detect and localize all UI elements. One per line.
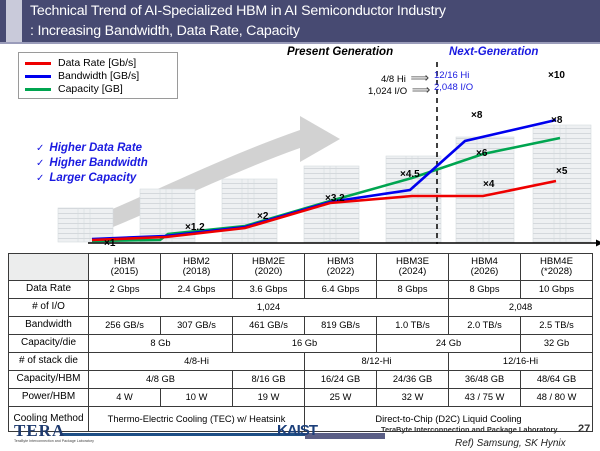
- multiplier-label: ×5: [556, 166, 567, 177]
- table-cell: 8 Gbps: [449, 281, 521, 299]
- hbm-spec-table: HBM(2015)HBM2(2018)HBM2E(2020)HBM3(2022)…: [8, 253, 593, 432]
- lab-name: TeraByte Interconnection and Package Lab…: [381, 425, 557, 434]
- table-row: Data Rate2 Gbps2.4 Gbps3.6 Gbps6.4 Gbps8…: [9, 281, 593, 299]
- table-row: Power/HBM4 W10 W19 W25 W32 W43 / 75 W48 …: [9, 389, 593, 407]
- x-axis-arrow-icon: [596, 240, 600, 247]
- table-cell: 10 W: [161, 389, 233, 407]
- kaist-logo: KAIST: [277, 422, 317, 439]
- trend-chart: Data Rate [Gb/s] Bandwidth [GB/s] Capaci…: [0, 44, 600, 252]
- column-year: (2015): [89, 267, 160, 278]
- check-icon: ✓: [36, 173, 44, 184]
- multiplier-label: ×4.5: [400, 169, 420, 180]
- table-cell: 4/8-Hi: [89, 353, 305, 371]
- table-corner-cell: [9, 254, 89, 281]
- column-header-hbm4e: HBM4E(*2028): [521, 254, 593, 281]
- tera-logo: TERA: [14, 421, 65, 441]
- column-header-hbm3e: HBM3E(2024): [377, 254, 449, 281]
- title-accent-bar: [6, 0, 22, 42]
- table-cell: 32 W: [377, 389, 449, 407]
- next-generation-label: Next-Generation: [449, 46, 538, 58]
- legend-label-bandwidth: Bandwidth [GB/s]: [58, 71, 139, 82]
- table-cell: 19 W: [233, 389, 305, 407]
- legend-label-capacity: Capacity [GB]: [58, 84, 123, 95]
- table-header-row: HBM(2015)HBM2(2018)HBM2E(2020)HBM3(2022)…: [9, 254, 593, 281]
- arrow-right-icon: ⟹: [412, 82, 431, 97]
- row-label: Power/HBM: [9, 389, 89, 407]
- page-number: 27: [578, 423, 590, 435]
- column-year: (2018): [161, 267, 232, 278]
- legend-swatch-capacity: [25, 88, 51, 91]
- table-cell: 2,048: [449, 299, 593, 317]
- row-label: # of stack die: [9, 353, 89, 371]
- reference-note: Ref) Samsung, SK Hynix: [455, 438, 566, 449]
- footer-rule: [60, 433, 305, 436]
- die-stack-hbm2e: [222, 179, 277, 242]
- multiplier-label: ×8: [471, 110, 482, 121]
- column-header-hbm4: HBM4(2026): [449, 254, 521, 281]
- bullet-higher-bandwidth: ✓Higher Bandwidth: [36, 157, 148, 169]
- bullet-label: Larger Capacity: [49, 172, 136, 184]
- legend-swatch-data-rate: [25, 62, 51, 65]
- multiplier-label: ×2: [257, 211, 268, 222]
- table-cell: 16 Gb: [233, 335, 377, 353]
- column-year: (2020): [233, 267, 304, 278]
- table-row: Capacity/HBM4/8 GB8/16 GB16/24 GB24/36 G…: [9, 371, 593, 389]
- check-icon: ✓: [36, 158, 44, 169]
- row-label: Capacity/HBM: [9, 371, 89, 389]
- row-label: Capacity/die: [9, 335, 89, 353]
- table-cell: 2.0 TB/s: [449, 317, 521, 335]
- present-generation-label: Present Generation: [287, 46, 393, 58]
- table-cell: 3.6 Gbps: [233, 281, 305, 299]
- table-row: Capacity/die8 Gb16 Gb24 Gb32 Gb: [9, 335, 593, 353]
- table-cell: 4/8 GB: [89, 371, 233, 389]
- multiplier-label: ×3.2: [325, 193, 345, 204]
- row-label: Bandwidth: [9, 317, 89, 335]
- bullet-higher-data-rate: ✓Higher Data Rate: [36, 142, 142, 154]
- multiplier-label: ×1: [104, 238, 115, 249]
- table-cell: 461 GB/s: [233, 317, 305, 335]
- bullet-label: Higher Bandwidth: [49, 157, 147, 169]
- die-stack-hbm: [58, 208, 113, 242]
- slide-footer: TERA TeraByte Interconnection and Packag…: [0, 425, 600, 451]
- table-row: Bandwidth256 GB/s307 GB/s461 GB/s819 GB/…: [9, 317, 593, 335]
- table-cell: 10 Gbps: [521, 281, 593, 299]
- table-cell: 8/12-Hi: [305, 353, 449, 371]
- multiplier-label: ×8: [551, 115, 562, 126]
- table-cell: 43 / 75 W: [449, 389, 521, 407]
- column-header-hbm: HBM(2015): [89, 254, 161, 281]
- table-cell: 36/48 GB: [449, 371, 521, 389]
- bullet-label: Higher Data Rate: [49, 142, 142, 154]
- table-cell: 1.0 TB/s: [377, 317, 449, 335]
- table-cell: 256 GB/s: [89, 317, 161, 335]
- table-cell: 24 Gb: [377, 335, 521, 353]
- slide-title-bar: Technical Trend of AI-Specialized HBM in…: [0, 0, 600, 42]
- column-year: (2022): [305, 267, 376, 278]
- table-cell: 307 GB/s: [161, 317, 233, 335]
- table-row: # of I/O1,0242,048: [9, 299, 593, 317]
- table-cell: 819 GB/s: [305, 317, 377, 335]
- legend-item-capacity: Capacity [GB]: [25, 83, 177, 96]
- multiplier-label: ×6: [476, 148, 487, 159]
- column-header-hbm2: HBM2(2018): [161, 254, 233, 281]
- column-year: (2024): [377, 267, 448, 278]
- multiplier-label: ×10: [548, 70, 565, 81]
- table-cell: 25 W: [305, 389, 377, 407]
- column-year: (*2028): [521, 267, 592, 278]
- table-cell: 16/24 GB: [305, 371, 377, 389]
- table-cell: 48 / 80 W: [521, 389, 593, 407]
- table-cell: 24/36 GB: [377, 371, 449, 389]
- table-cell: 2.5 TB/s: [521, 317, 593, 335]
- table-cell: 6.4 Gbps: [305, 281, 377, 299]
- legend-item-data-rate: Data Rate [Gb/s]: [25, 57, 177, 70]
- table-cell: 48/64 GB: [521, 371, 593, 389]
- table-cell: 8 Gb: [89, 335, 233, 353]
- next-stack-note: 12/16 Hi: [434, 70, 469, 81]
- title-line-1: Technical Trend of AI-Specialized HBM in…: [30, 1, 590, 21]
- table-cell: 32 Gb: [521, 335, 593, 353]
- multiplier-label: ×1.2: [185, 222, 205, 233]
- page-title: Technical Trend of AI-Specialized HBM in…: [30, 1, 590, 41]
- title-line-2: : Increasing Bandwidth, Data Rate, Capac…: [30, 21, 590, 41]
- bullet-larger-capacity: ✓Larger Capacity: [36, 172, 136, 184]
- table-cell: 4 W: [89, 389, 161, 407]
- multiplier-label: ×4: [483, 179, 494, 190]
- row-label: Data Rate: [9, 281, 89, 299]
- chart-legend: Data Rate [Gb/s] Bandwidth [GB/s] Capaci…: [18, 52, 178, 99]
- row-label: # of I/O: [9, 299, 89, 317]
- table-cell: 1,024: [89, 299, 449, 317]
- table-cell: 2 Gbps: [89, 281, 161, 299]
- check-icon: ✓: [36, 143, 44, 154]
- table-row: # of stack die4/8-Hi8/12-Hi12/16-Hi: [9, 353, 593, 371]
- legend-item-bandwidth: Bandwidth [GB/s]: [25, 70, 177, 83]
- column-header-hbm3: HBM3(2022): [305, 254, 377, 281]
- table-cell: 8/16 GB: [233, 371, 305, 389]
- legend-label-data-rate: Data Rate [Gb/s]: [58, 58, 136, 69]
- tera-logo-subtitle: TeraByte Interconnection and Package Lab…: [14, 439, 94, 443]
- column-header-hbm2e: HBM2E(2020): [233, 254, 305, 281]
- next-io-note: 2,048 I/O: [434, 82, 473, 93]
- column-year: (2026): [449, 267, 520, 278]
- table-cell: 2.4 Gbps: [161, 281, 233, 299]
- table-cell: 8 Gbps: [377, 281, 449, 299]
- legend-swatch-bandwidth: [25, 75, 51, 78]
- present-io-note: 1,024 I/O ⟹: [368, 82, 430, 98]
- table-cell: 12/16-Hi: [449, 353, 593, 371]
- footer-rule-secondary: [305, 433, 385, 439]
